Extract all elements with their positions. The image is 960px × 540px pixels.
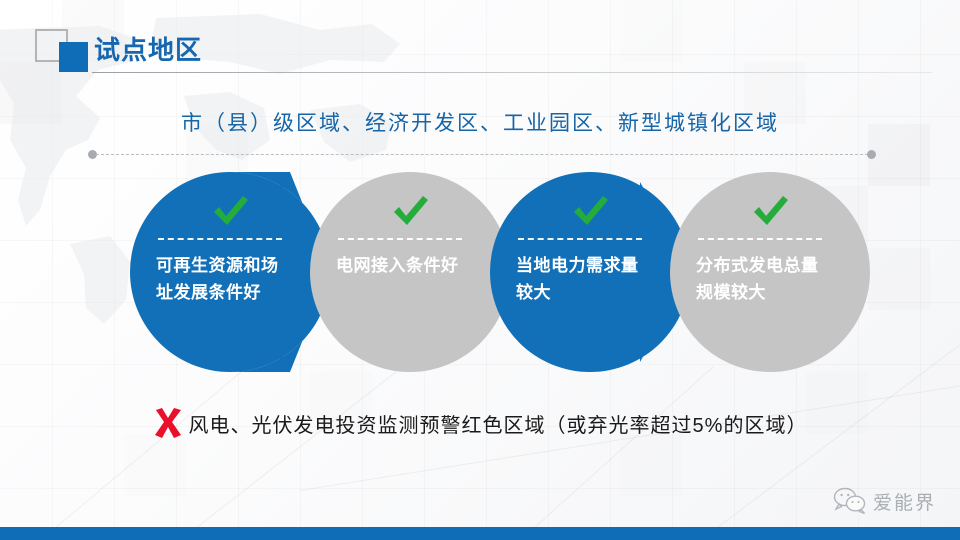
bubble-divider (518, 238, 642, 240)
criteria-bubble-3[interactable]: 当地电力需求量较大 (490, 172, 690, 372)
footer-bar (0, 527, 960, 540)
subtitle: 市（县）级区域、经济开发区、工业园区、新型城镇化区域 (0, 107, 960, 137)
criteria-label-4: 分布式发电总量规模较大 (696, 252, 828, 306)
wechat-icon (833, 487, 867, 515)
header-solid-square-icon (59, 42, 88, 72)
watermark-text: 爱能界 (873, 488, 936, 515)
x-mark-icon (153, 408, 183, 438)
connector-dot-right (867, 150, 876, 159)
criteria-label-3: 当地电力需求量较大 (516, 252, 648, 306)
watermark: 爱能界 (833, 484, 936, 518)
criteria-bubble-2[interactable]: 电网接入条件好 (310, 172, 510, 372)
bubble-divider (338, 238, 462, 240)
criteria-label-2: 电网接入条件好 (336, 252, 468, 279)
connector-dashes (96, 154, 868, 155)
criteria-bubble-1[interactable]: 可再生资源和场址发展条件好 (130, 172, 330, 372)
page-title: 试点地区 (94, 30, 202, 67)
criteria-row: 可再生资源和场址发展条件好 电网接入条件好 (0, 172, 960, 377)
exclusion-note: 风电、光伏发电投资监测预警红色区域（或弃光率超过5%的区域） (0, 408, 960, 438)
connector-line (88, 150, 876, 160)
header-divider (92, 72, 932, 73)
bubble-divider (698, 238, 822, 240)
criteria-label-1: 可再生资源和场址发展条件好 (156, 252, 288, 306)
exclusion-note-text: 风电、光伏发电投资监测预警红色区域（或弃光率超过5%的区域） (189, 409, 808, 438)
bubble-divider (158, 238, 282, 240)
slide-header: 试点地区 (0, 0, 960, 80)
slide: 试点地区 市（县）级区域、经济开发区、工业园区、新型城镇化区域 (0, 0, 960, 540)
criteria-bubble-4[interactable]: 分布式发电总量规模较大 (670, 172, 870, 372)
